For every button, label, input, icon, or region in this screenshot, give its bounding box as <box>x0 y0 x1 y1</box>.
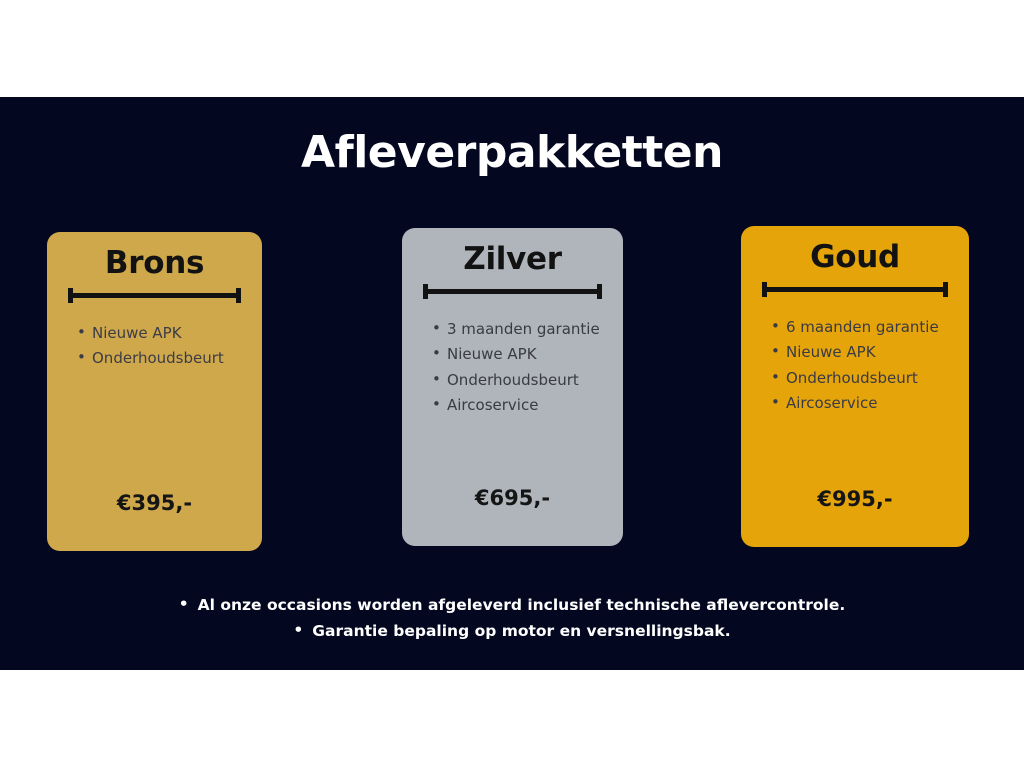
feature-list-bronze: Nieuwe APK Onderhoudsbeurt <box>47 321 262 372</box>
divider-ibeam-silver <box>423 283 602 299</box>
bullet-dot-icon: • <box>293 618 303 643</box>
list-item: Nieuwe APK <box>771 340 969 365</box>
list-item: 6 maanden garantie <box>771 315 969 340</box>
feature-list-gold: 6 maanden garantie Nieuwe APK Onderhouds… <box>741 315 969 417</box>
footer-notes: •Al onze occasions worden afgeleverd inc… <box>0 592 1024 644</box>
bullet-dot-icon: • <box>179 592 189 617</box>
list-item: Onderhoudsbeurt <box>77 346 262 371</box>
list-item: Onderhoudsbeurt <box>771 366 969 391</box>
package-price-gold: €995,- <box>741 487 969 511</box>
divider-ibeam-bronze <box>68 287 241 303</box>
package-title-silver: Zilver <box>402 240 623 278</box>
footer-note-2: •Garantie bepaling op motor en versnelli… <box>0 618 1024 644</box>
package-card-bronze[interactable]: Brons Nieuwe APK Onderhoudsbeurt €395,- <box>47 232 262 551</box>
footer-note-1-text: Al onze occasions worden afgeleverd incl… <box>198 596 846 614</box>
list-item: Onderhoudsbeurt <box>432 368 623 393</box>
divider-bar-icon <box>68 293 241 298</box>
list-item: Aircoservice <box>432 393 623 418</box>
divider-cap-right-icon <box>943 282 948 297</box>
package-price-bronze: €395,- <box>47 491 262 515</box>
package-title-bronze: Brons <box>47 244 262 282</box>
divider-cap-right-icon <box>597 284 602 299</box>
list-item: 3 maanden garantie <box>432 317 623 342</box>
package-card-silver[interactable]: Zilver 3 maanden garantie Nieuwe APK Ond… <box>402 228 623 546</box>
package-price-silver: €695,- <box>402 486 623 510</box>
footer-note-2-text: Garantie bepaling op motor en versnellin… <box>312 622 730 640</box>
divider-cap-right-icon <box>236 288 241 303</box>
list-item: Aircoservice <box>771 391 969 416</box>
footer-note-1: •Al onze occasions worden afgeleverd inc… <box>0 592 1024 618</box>
page-title: Afleverpakketten <box>0 126 1024 180</box>
package-card-gold[interactable]: Goud 6 maanden garantie Nieuwe APK Onder… <box>741 226 969 547</box>
divider-bar-icon <box>423 289 602 294</box>
divider-bar-icon <box>762 287 948 292</box>
package-title-gold: Goud <box>741 238 969 276</box>
divider-ibeam-gold <box>762 281 948 297</box>
list-item: Nieuwe APK <box>432 342 623 367</box>
feature-list-silver: 3 maanden garantie Nieuwe APK Onderhouds… <box>402 317 623 419</box>
list-item: Nieuwe APK <box>77 321 262 346</box>
